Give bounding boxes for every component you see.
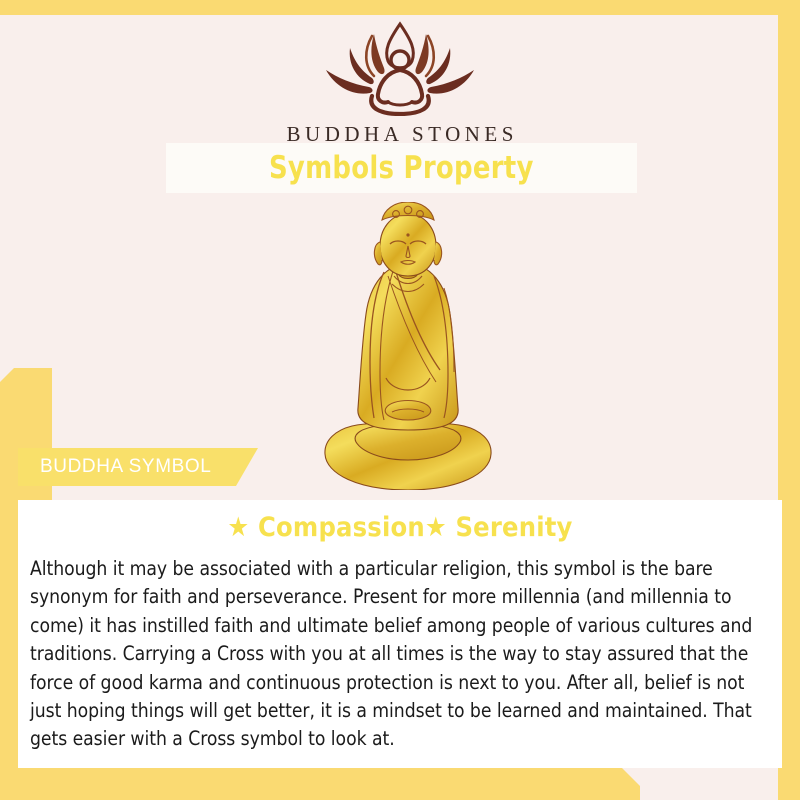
brand-header: BUDDHA STONES	[0, 18, 800, 147]
lotus-meditation-figure-icon	[310, 18, 490, 116]
buddha-symbol-banner: BUDDHA SYMBOL	[18, 448, 258, 486]
article-body-text: Although it may be associated with a par…	[30, 555, 770, 754]
page-title: Symbols Property	[269, 150, 534, 186]
seated-golden-buddha-illustration	[322, 202, 494, 490]
article-heading: ★ Compassion★ Serenity	[18, 512, 782, 543]
promo-banner-page: BUDDHA STONES Symbols Property	[0, 0, 800, 800]
top-yellow-border	[0, 0, 800, 15]
article-panel: ★ Compassion★ Serenity Although it may b…	[18, 500, 782, 768]
symbol-banner-label: BUDDHA SYMBOL	[40, 456, 211, 478]
title-band: Symbols Property	[166, 143, 637, 193]
buddha-figure-icon	[322, 202, 494, 490]
